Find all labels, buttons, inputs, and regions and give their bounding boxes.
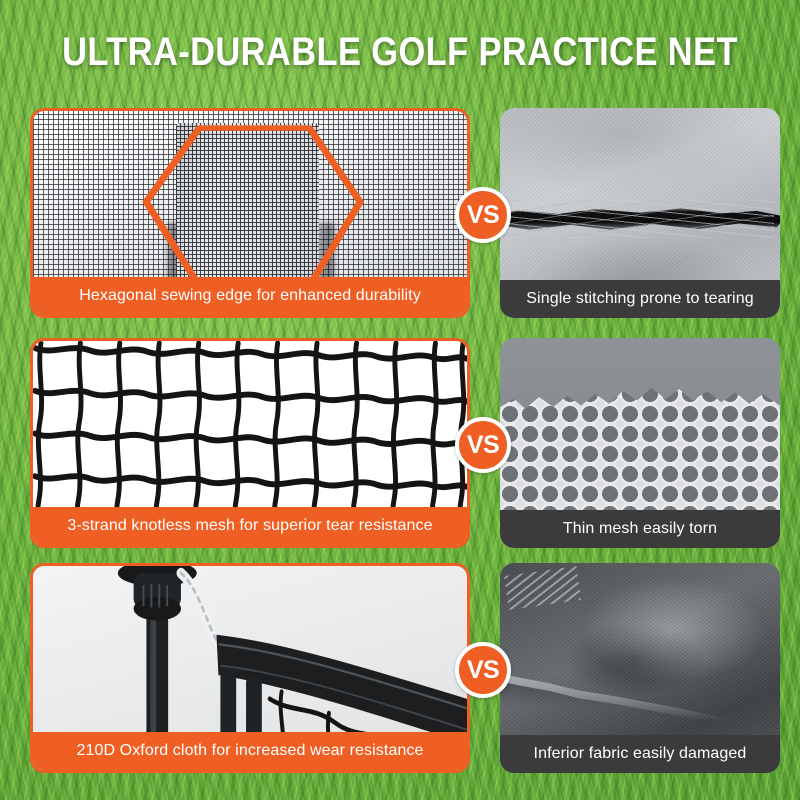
vs-badge-1: VS <box>455 187 511 243</box>
caption-bad-3: Inferior fabric easily damaged <box>500 735 780 773</box>
fabric-seam-stitching <box>504 566 581 609</box>
vs-badge-3: VS <box>455 642 511 698</box>
hexagon-highlight-icon <box>137 123 367 294</box>
comparison-row-3: 210D Oxford cloth for increased wear res… <box>0 563 800 773</box>
caption-good-3: 210D Oxford cloth for increased wear res… <box>33 732 467 770</box>
frayed-threads <box>506 200 775 238</box>
caption-good-2: 3-strand knotless mesh for superior tear… <box>33 507 467 545</box>
feature-card-bad-2[interactable]: Thin mesh easily torn <box>500 338 780 548</box>
feature-card-good-3[interactable]: 210D Oxford cloth for increased wear res… <box>30 563 470 773</box>
feature-card-good-2[interactable]: 3-strand knotless mesh for superior tear… <box>30 338 470 548</box>
comparison-row-1: Hexagonal sewing edge for enhanced durab… <box>0 108 800 318</box>
feature-card-good-1[interactable]: Hexagonal sewing edge for enhanced durab… <box>30 108 470 318</box>
feature-card-bad-3[interactable]: Inferior fabric easily damaged <box>500 563 780 773</box>
vs-badge-2: VS <box>455 417 511 473</box>
caption-good-1: Hexagonal sewing edge for enhanced durab… <box>33 277 467 315</box>
comparison-row-2: 3-strand knotless mesh for superior tear… <box>0 338 800 548</box>
caption-bad-1: Single stitching prone to tearing <box>500 280 780 318</box>
feature-card-bad-1[interactable]: Single stitching prone to tearing <box>500 108 780 318</box>
caption-bad-2: Thin mesh easily torn <box>500 510 780 548</box>
page-title: ULTRA-DURABLE GOLF PRACTICE NET <box>56 30 744 74</box>
